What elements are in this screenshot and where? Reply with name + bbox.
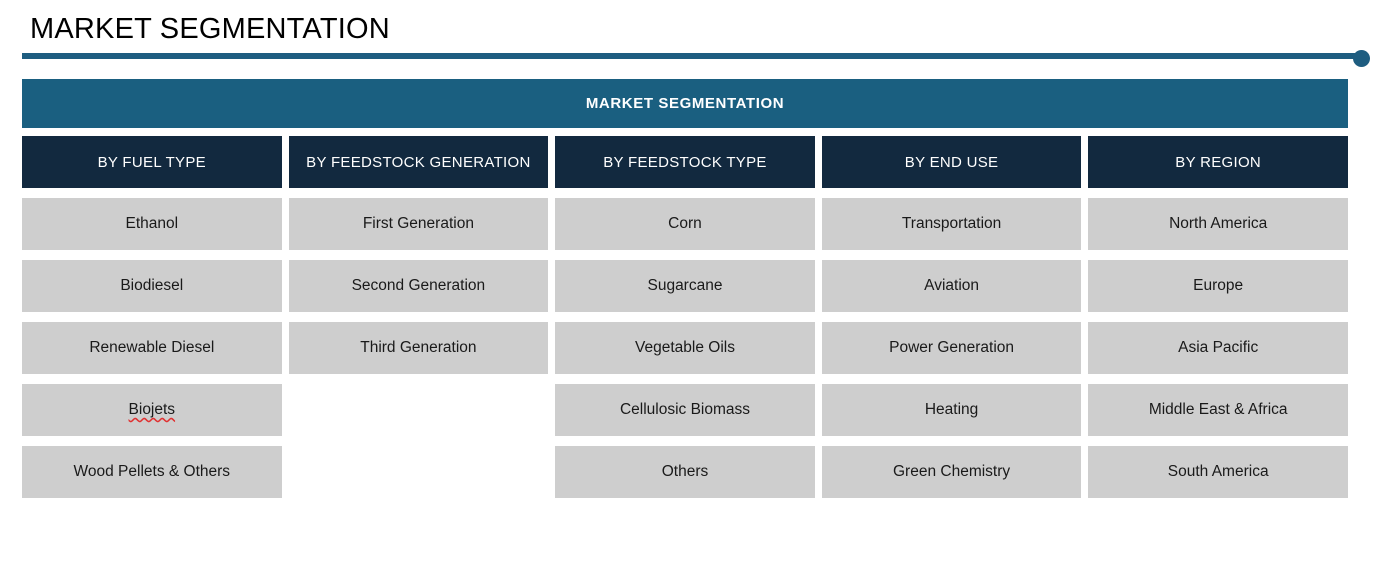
segment-cell[interactable]: Asia Pacific xyxy=(1088,322,1348,374)
column-header[interactable]: BY REGION xyxy=(1088,136,1348,188)
segment-cell-label: Vegetable Oils xyxy=(635,339,735,357)
segment-cell[interactable]: Transportation xyxy=(822,198,1082,250)
page-title: MARKET SEGMENTATION xyxy=(30,11,390,47)
segment-cell[interactable]: Biojets xyxy=(22,384,282,436)
segment-cell[interactable]: First Generation xyxy=(289,198,549,250)
segment-cell-label: Cellulosic Biomass xyxy=(620,401,750,419)
segment-cell[interactable]: Others xyxy=(555,446,815,498)
segment-cell-label: Europe xyxy=(1193,277,1243,295)
segment-cell-label: Corn xyxy=(668,215,702,233)
segmentation-columns: BY FUEL TYPEEthanolBiodieselRenewable Di… xyxy=(22,136,1348,498)
segment-cell-label: Transportation xyxy=(902,215,1001,233)
diagram-banner: MARKET SEGMENTATION xyxy=(22,79,1348,128)
segment-cell[interactable]: Power Generation xyxy=(822,322,1082,374)
segment-cell[interactable]: Europe xyxy=(1088,260,1348,312)
segment-cell[interactable]: Wood Pellets & Others xyxy=(22,446,282,498)
segment-cell-label: Third Generation xyxy=(360,339,476,357)
segment-cell-label: Middle East & Africa xyxy=(1149,401,1288,419)
segment-cell[interactable]: Vegetable Oils xyxy=(555,322,815,374)
column-header[interactable]: BY FEEDSTOCK GENERATION xyxy=(289,136,549,188)
segment-cell[interactable]: Biodiesel xyxy=(22,260,282,312)
segment-cell-label: Aviation xyxy=(924,277,979,295)
segment-cell[interactable]: Renewable Diesel xyxy=(22,322,282,374)
segment-cell[interactable]: Middle East & Africa xyxy=(1088,384,1348,436)
divider-line xyxy=(22,53,1358,59)
segment-cell-label-misspelled: Biojets xyxy=(129,401,176,419)
segment-cell-label: Asia Pacific xyxy=(1178,339,1258,357)
column-header[interactable]: BY END USE xyxy=(822,136,1082,188)
column-header[interactable]: BY FUEL TYPE xyxy=(22,136,282,188)
market-segmentation-diagram: MARKET SEGMENTATION BY FUEL TYPEEthanolB… xyxy=(22,79,1348,504)
segment-cell-empty xyxy=(289,384,549,436)
column-header[interactable]: BY FEEDSTOCK TYPE xyxy=(555,136,815,188)
segment-cell[interactable]: Aviation xyxy=(822,260,1082,312)
segmentation-column: BY FEEDSTOCK TYPECornSugarcaneVegetable … xyxy=(555,136,815,498)
segment-cell-label: North America xyxy=(1169,215,1267,233)
segment-cell[interactable]: North America xyxy=(1088,198,1348,250)
segment-cell-label: Renewable Diesel xyxy=(89,339,214,357)
segmentation-column: BY FEEDSTOCK GENERATIONFirst GenerationS… xyxy=(289,136,549,498)
segment-cell[interactable]: Cellulosic Biomass xyxy=(555,384,815,436)
segmentation-column: BY FUEL TYPEEthanolBiodieselRenewable Di… xyxy=(22,136,282,498)
segment-cell-empty xyxy=(289,446,549,498)
segmentation-column: BY REGIONNorth AmericaEuropeAsia Pacific… xyxy=(1088,136,1348,498)
segment-cell[interactable]: Sugarcane xyxy=(555,260,815,312)
segment-cell[interactable]: Ethanol xyxy=(22,198,282,250)
divider-end-knob-icon xyxy=(1353,50,1370,67)
segment-cell[interactable]: Green Chemistry xyxy=(822,446,1082,498)
segment-cell-label: Wood Pellets & Others xyxy=(74,463,231,481)
diagram-banner-label: MARKET SEGMENTATION xyxy=(586,95,784,112)
segmentation-column: BY END USETransportationAviationPower Ge… xyxy=(822,136,1082,498)
segment-cell-label: Others xyxy=(662,463,709,481)
segment-cell[interactable]: Second Generation xyxy=(289,260,549,312)
segment-cell[interactable]: Heating xyxy=(822,384,1082,436)
segment-cell[interactable]: Third Generation xyxy=(289,322,549,374)
segment-cell-label: Green Chemistry xyxy=(893,463,1010,481)
segment-cell-label: Second Generation xyxy=(352,277,486,295)
segment-cell-label: South America xyxy=(1168,463,1269,481)
segment-cell-label: First Generation xyxy=(363,215,474,233)
segment-cell-label: Sugarcane xyxy=(647,277,722,295)
segment-cell-label: Power Generation xyxy=(889,339,1014,357)
segment-cell[interactable]: Corn xyxy=(555,198,815,250)
segment-cell-label: Biodiesel xyxy=(120,277,183,295)
segment-cell-label: Ethanol xyxy=(126,215,179,233)
segment-cell-label: Heating xyxy=(925,401,978,419)
segment-cell[interactable]: South America xyxy=(1088,446,1348,498)
title-divider xyxy=(22,50,1370,68)
